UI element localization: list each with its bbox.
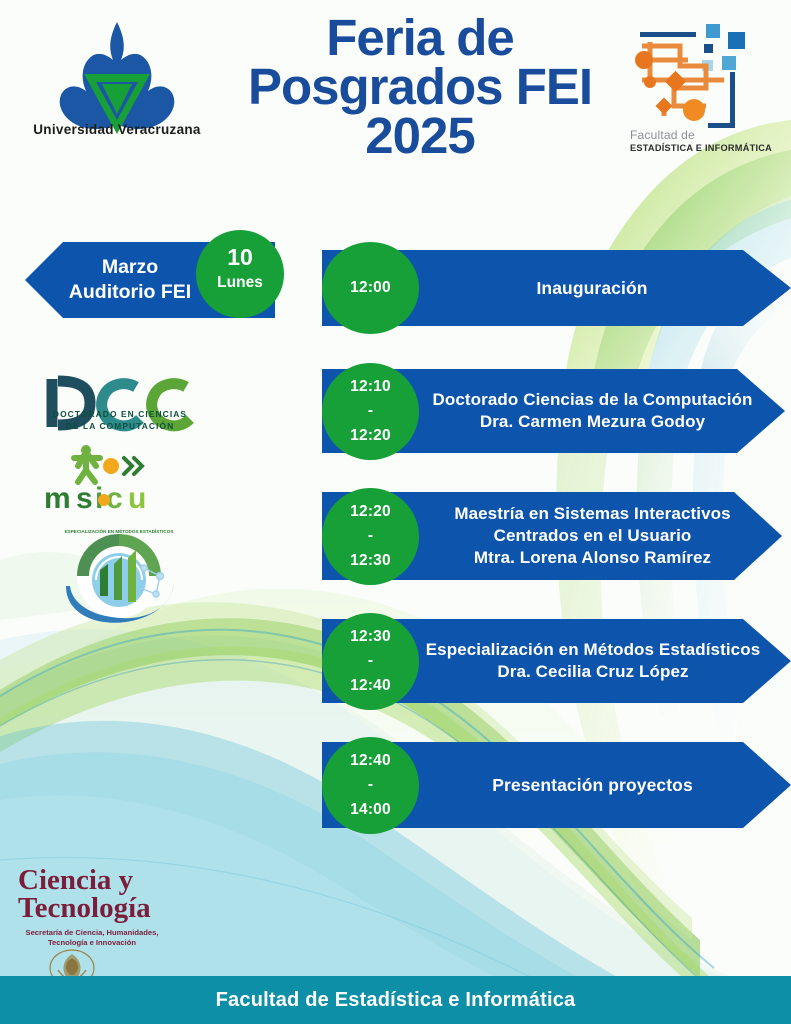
- schedule-time-sep: -: [368, 524, 373, 548]
- schedule-row[interactable]: 12:00 Inauguración: [322, 242, 791, 334]
- schedule-time-circle: 12:00: [322, 242, 419, 334]
- schedule-time-circle: 12:40 - 14:00: [322, 737, 419, 834]
- title-line-2: Posgrados FEI: [210, 63, 630, 112]
- schedule-time-text: 12:30 - 12:40: [322, 613, 419, 710]
- fei-logo-caption-line2: ESTADÍSTICA E INFORMÁTICA: [630, 143, 780, 153]
- schedule-row[interactable]: 12:40 - 14:00 Presentación proyectos: [322, 734, 791, 836]
- schedule-row[interactable]: 12:20 - 12:30 Maestría en Sistemas Inter…: [322, 484, 782, 588]
- schedule-time-text: 12:20 - 12:30: [322, 488, 419, 585]
- title-line-3: 2025: [210, 112, 630, 161]
- schedule-time-line: 12:20: [350, 500, 391, 524]
- poster-root: Universidad Veracruzana Feria de Posgrad…: [0, 0, 791, 1024]
- day-circle: 10 Lunes: [196, 230, 284, 318]
- fei-faculty-logo-icon: [628, 20, 768, 140]
- schedule-time-line: 12:40: [350, 749, 391, 773]
- schedule-title-line: Especialización en Métodos Estadísticos: [426, 639, 761, 661]
- ciencia-tecnologia-subtitle: Secretaría de Ciencia, Humanidades, Tecn…: [22, 928, 162, 949]
- schedule-time-sep: -: [368, 773, 373, 797]
- schedule-time-text: 12:40 - 14:00: [322, 737, 419, 834]
- day-banner-text: Marzo Auditorio FEI: [40, 255, 220, 306]
- day-name: Lunes: [196, 275, 284, 291]
- schedule-time-line: 12:30: [350, 549, 391, 573]
- schedule-time-line: 12:30: [350, 625, 391, 649]
- schedule-time-line: 12:40: [350, 674, 391, 698]
- schedule-title-line: Centrados en el Usuario: [494, 525, 692, 547]
- schedule-title-line: Mtra. Lorena Alonso Ramírez: [474, 547, 711, 569]
- poster-header: Universidad Veracruzana Feria de Posgrad…: [0, 0, 791, 200]
- schedule-list: Marzo Auditorio FEI 10 Lunes 12:00 Inaug…: [0, 236, 791, 856]
- fei-logo-caption-line1: Facultad de: [630, 128, 760, 142]
- poster-footer: Facultad de Estadística e Informática: [0, 976, 791, 1024]
- schedule-time-line: 12:10: [350, 375, 391, 399]
- schedule-time-sep: -: [368, 399, 373, 423]
- schedule-time-text: 12:10 - 12:20: [322, 363, 419, 460]
- schedule-title-line: Inauguración: [536, 277, 647, 300]
- schedule-title: Doctorado Ciencias de la Computación Dra…: [420, 361, 765, 461]
- footer-text: Facultad de Estadística e Informática: [216, 989, 576, 1012]
- schedule-row[interactable]: 12:10 - 12:20 Doctorado Ciencias de la C…: [322, 361, 785, 461]
- schedule-time-circle: 12:30 - 12:40: [322, 613, 419, 710]
- schedule-title: Inauguración: [422, 242, 762, 334]
- schedule-title-line: Dra. Carmen Mezura Godoy: [480, 411, 705, 433]
- schedule-title: Presentación proyectos: [420, 734, 765, 836]
- schedule-time-text: 12:00: [322, 242, 419, 334]
- schedule-title-line: Presentación proyectos: [492, 774, 693, 797]
- ciencia-sub-line1: Secretaría de Ciencia, Humanidades,: [22, 928, 162, 938]
- schedule-row[interactable]: 12:30 - 12:40 Especialización en Métodos…: [322, 611, 791, 711]
- day-banner-month: Marzo: [40, 255, 220, 280]
- title-line-1: Feria de: [210, 14, 630, 63]
- schedule-time-circle: 12:10 - 12:20: [322, 363, 419, 460]
- schedule-time-line: 14:00: [350, 798, 391, 822]
- schedule-time-line: 12:20: [350, 424, 391, 448]
- schedule-title-line: Doctorado Ciencias de la Computación: [432, 389, 752, 411]
- page-title: Feria de Posgrados FEI 2025: [210, 14, 630, 161]
- schedule-time-sep: -: [368, 649, 373, 673]
- schedule-time-line: 12:00: [350, 276, 391, 300]
- schedule-title: Maestría en Sistemas Interactivos Centra…: [420, 484, 765, 588]
- schedule-title-line: Maestría en Sistemas Interactivos: [454, 503, 730, 525]
- schedule-time-circle: 12:20 - 12:30: [322, 488, 419, 585]
- schedule-title-line: Dra. Cecilia Cruz López: [497, 661, 688, 683]
- ciencia-tecnologia-line2: Tecnología: [18, 894, 151, 924]
- day-banner-venue: Auditorio FEI: [40, 280, 220, 305]
- university-name: Universidad Veracruzana: [22, 122, 212, 137]
- schedule-title: Especialización en Métodos Estadísticos …: [418, 611, 768, 711]
- day-number: 10: [196, 246, 284, 269]
